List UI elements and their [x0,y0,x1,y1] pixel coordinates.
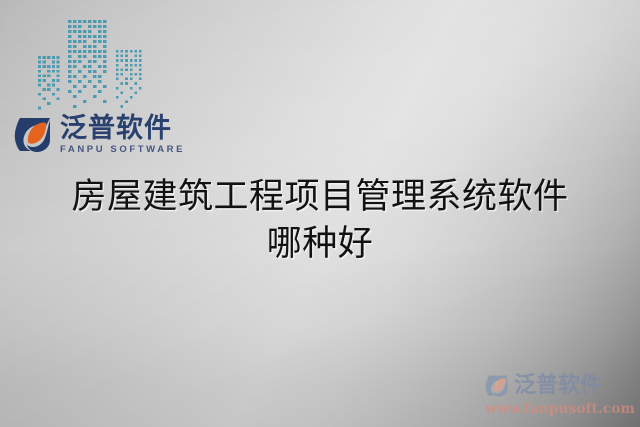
watermark-name-cn: 泛普软件 [514,375,602,397]
page-title: 房屋建筑工程项目管理系统软件 哪种好 [0,174,640,267]
watermark-url: www.fanpusoft.com [484,401,636,417]
brand-lockup: 泛普软件 FANPU SOFTWARE [12,114,185,156]
brand-name-cn: 泛普软件 [60,115,185,142]
poster-canvas: 泛普软件 FANPU SOFTWARE 房屋建筑工程项目管理系统软件 哪种好 泛… [0,0,640,427]
pixel-skyline-graphic [34,16,150,112]
watermark-logo-row: 泛普软件 [484,373,636,399]
page-title-line-1: 房屋建筑工程项目管理系统软件 [0,174,640,221]
brand-text: 泛普软件 FANPU SOFTWARE [60,115,185,155]
watermark: 泛普软件 www.fanpusoft.com [484,373,636,417]
fanpu-logo-mark-icon [12,114,54,156]
page-title-line-2: 哪种好 [0,221,640,268]
fanpu-logo-mark-watermark-icon [484,373,510,399]
brand-name-en: FANPU SOFTWARE [60,145,185,155]
